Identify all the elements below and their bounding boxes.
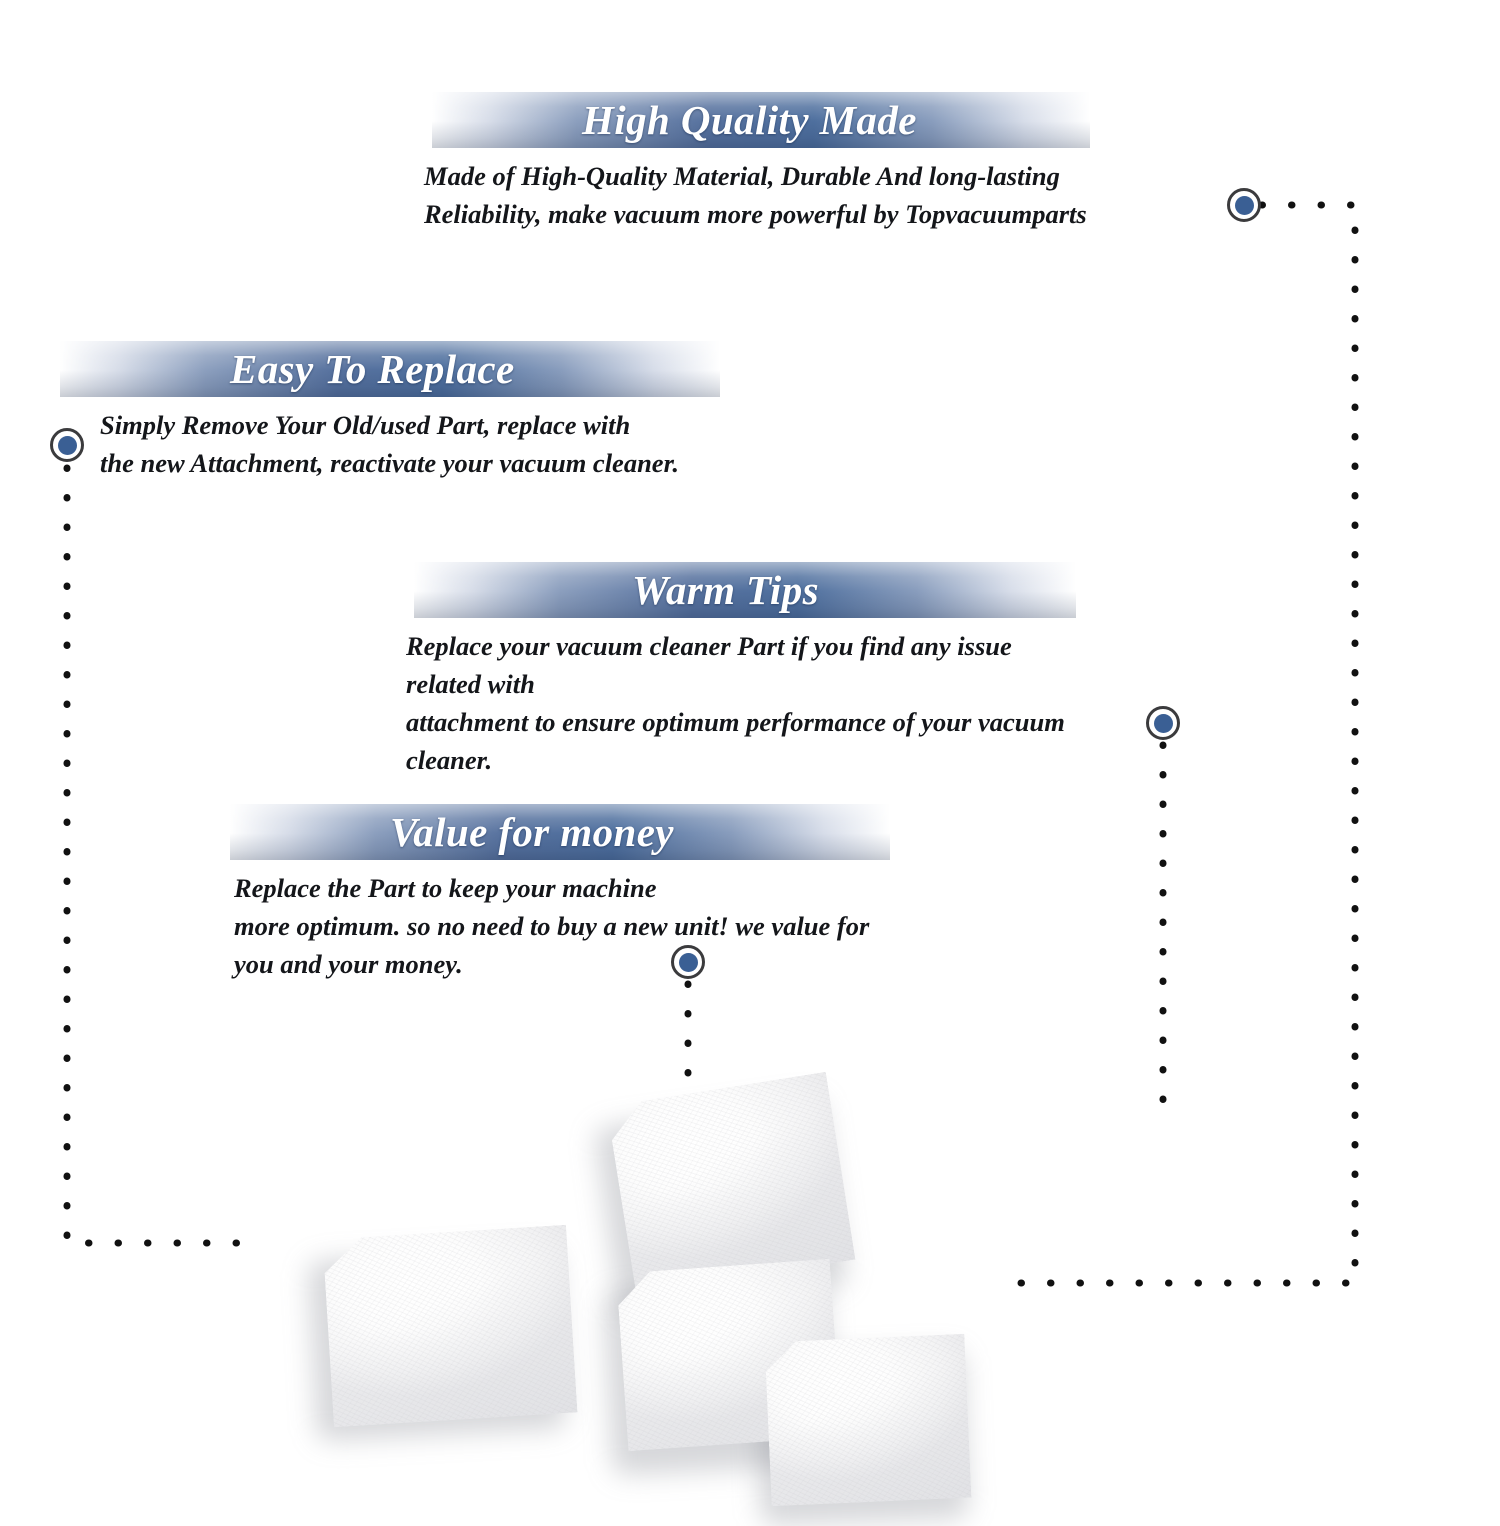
connector-marker-easy-to-replace: [50, 428, 84, 462]
feature-block-easy-to-replace: Easy To Replace Simply Remove Your Old/u…: [60, 341, 720, 482]
feature-title-high-quality-made: High Quality Made: [582, 96, 917, 144]
feature-banner-value-for-money: Value for money: [230, 804, 890, 860]
connector-marker-high-quality-made: [1227, 188, 1261, 222]
marker-dot-icon: [1154, 714, 1173, 733]
feature-block-warm-tips: Warm Tips Replace your vacuum cleaner Pa…: [414, 562, 1076, 780]
connector-marker-value-for-money: [671, 945, 705, 979]
filter-pad: [765, 1334, 972, 1507]
marker-dot-icon: [58, 436, 77, 455]
feature-block-high-quality-made: High Quality Made Made of High-Quality M…: [432, 92, 1090, 233]
feature-body-warm-tips: Replace your vacuum cleaner Part if you …: [406, 627, 1076, 780]
feature-banner-warm-tips: Warm Tips: [414, 562, 1076, 618]
feature-block-value-for-money: Value for money Replace the Part to keep…: [230, 804, 890, 983]
feature-body-value-for-money: Replace the Part to keep your machine mo…: [234, 869, 890, 983]
infographic-canvas: High Quality Made Made of High-Quality M…: [0, 0, 1500, 1500]
feature-body-high-quality-made: Made of High-Quality Material, Durable A…: [424, 157, 1090, 233]
marker-dot-icon: [1235, 196, 1254, 215]
connector-marker-warm-tips: [1146, 706, 1180, 740]
product-image-vacuum-filter-pads: [290, 1080, 1010, 1500]
feature-body-easy-to-replace: Simply Remove Your Old/used Part, replac…: [100, 406, 720, 482]
feature-title-value-for-money: Value for money: [390, 808, 674, 856]
feature-title-warm-tips: Warm Tips: [632, 566, 819, 614]
filter-pad: [322, 1225, 577, 1428]
feature-banner-easy-to-replace: Easy To Replace: [60, 341, 720, 397]
feature-banner-high-quality-made: High Quality Made: [432, 92, 1090, 148]
marker-dot-icon: [679, 953, 698, 972]
feature-title-easy-to-replace: Easy To Replace: [230, 345, 515, 393]
